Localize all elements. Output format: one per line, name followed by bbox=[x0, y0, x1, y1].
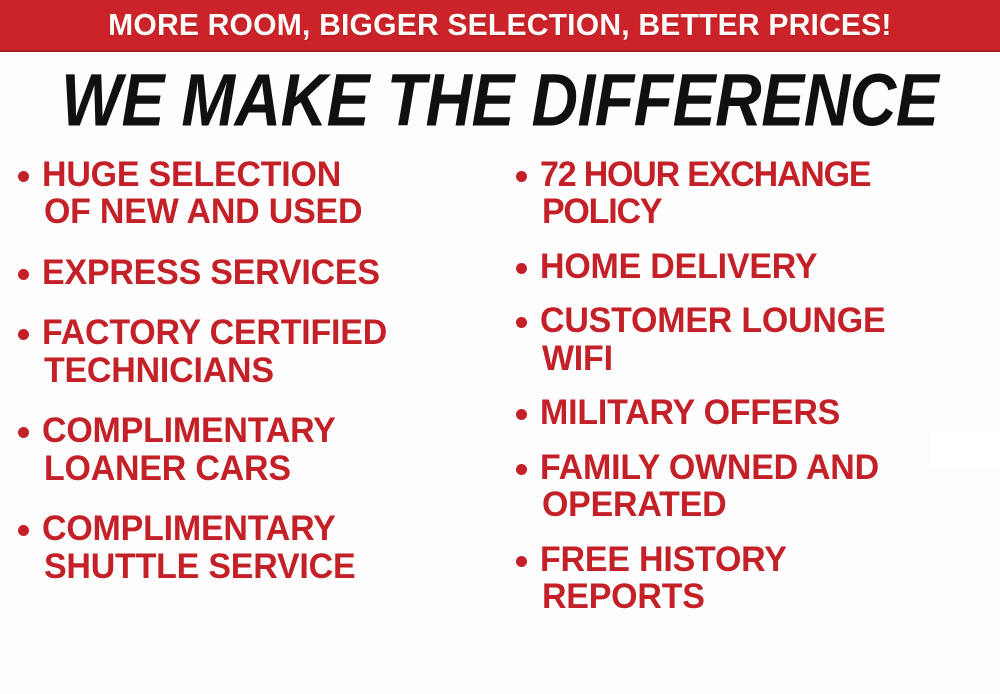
list-item-label: FAMILY OWNED AND OPERATED bbox=[540, 449, 879, 524]
list-item-label: MILITARY OFFERS bbox=[540, 394, 840, 431]
features-columns: HUGE SELECTION OF NEW AND USED EXPRESS S… bbox=[0, 156, 1000, 694]
list-item: FREE HISTORY REPORTS bbox=[516, 541, 988, 616]
list-item-line1: HOME DELIVERY bbox=[540, 247, 817, 286]
list-item: MILITARY OFFERS bbox=[516, 394, 988, 431]
list-item-line2: OPERATED bbox=[540, 486, 879, 523]
bullet-dot-icon bbox=[516, 556, 527, 567]
bullet-dot-icon bbox=[516, 171, 527, 182]
promo-banner: MORE ROOM, BIGGER SELECTION, BETTER PRIC… bbox=[0, 0, 1000, 52]
list-item-label: CUSTOMER LOUNGE WIFI bbox=[540, 302, 885, 377]
bullet-dot-icon bbox=[516, 409, 527, 420]
list-item-line1: COMPLIMENTARY bbox=[42, 509, 336, 548]
list-item: FAMILY OWNED AND OPERATED bbox=[516, 449, 988, 524]
headline-container: WE MAKE THE DIFFERENCE bbox=[0, 64, 1000, 136]
list-item-line2: SHUTTLE SERVICE bbox=[42, 548, 355, 585]
list-item-line1: COMPLIMENTARY bbox=[42, 411, 336, 450]
list-item-line2: REPORTS bbox=[540, 578, 787, 615]
list-item-line2: WIFI bbox=[540, 340, 885, 377]
list-item-line1: MILITARY OFFERS bbox=[540, 393, 840, 432]
list-item-label: EXPRESS SERVICES bbox=[42, 254, 380, 291]
list-item-line1: FACTORY CERTIFIED bbox=[42, 313, 387, 352]
image-artifact bbox=[930, 432, 1000, 468]
list-item-label: COMPLIMENTARY SHUTTLE SERVICE bbox=[42, 510, 355, 585]
bullet-dot-icon bbox=[516, 263, 527, 274]
list-item-label: FREE HISTORY REPORTS bbox=[540, 541, 787, 616]
list-item-line2: POLICY bbox=[540, 193, 870, 230]
list-item-label: COMPLIMENTARY LOANER CARS bbox=[42, 412, 336, 487]
list-item-line1: FAMILY OWNED AND bbox=[540, 448, 879, 487]
list-item-line1: 72 HOUR EXCHANGE bbox=[540, 155, 870, 194]
bullet-dot-icon bbox=[516, 464, 527, 475]
list-item-line2: TECHNICIANS bbox=[42, 352, 387, 389]
list-item: 72 HOUR EXCHANGE POLICY bbox=[516, 156, 988, 231]
list-item-line2: OF NEW AND USED bbox=[42, 193, 362, 230]
list-item-line2: LOANER CARS bbox=[42, 450, 336, 487]
list-item-label: FACTORY CERTIFIED TECHNICIANS bbox=[42, 314, 387, 389]
list-item-line1: FREE HISTORY bbox=[540, 540, 787, 579]
promo-banner-text: MORE ROOM, BIGGER SELECTION, BETTER PRIC… bbox=[108, 7, 892, 43]
list-item-line1: CUSTOMER LOUNGE bbox=[540, 301, 885, 340]
bullet-dot-icon bbox=[516, 317, 527, 328]
list-item: CUSTOMER LOUNGE WIFI bbox=[516, 302, 988, 377]
list-item-label: HOME DELIVERY bbox=[540, 248, 817, 285]
list-item-line1: HUGE SELECTION bbox=[42, 155, 341, 194]
list-item: HOME DELIVERY bbox=[516, 248, 988, 285]
page-title: WE MAKE THE DIFFERENCE bbox=[61, 63, 938, 137]
list-item-line1: EXPRESS SERVICES bbox=[42, 253, 380, 292]
list-item-label: 72 HOUR EXCHANGE POLICY bbox=[540, 156, 870, 231]
list-item-label: HUGE SELECTION OF NEW AND USED bbox=[42, 156, 362, 231]
